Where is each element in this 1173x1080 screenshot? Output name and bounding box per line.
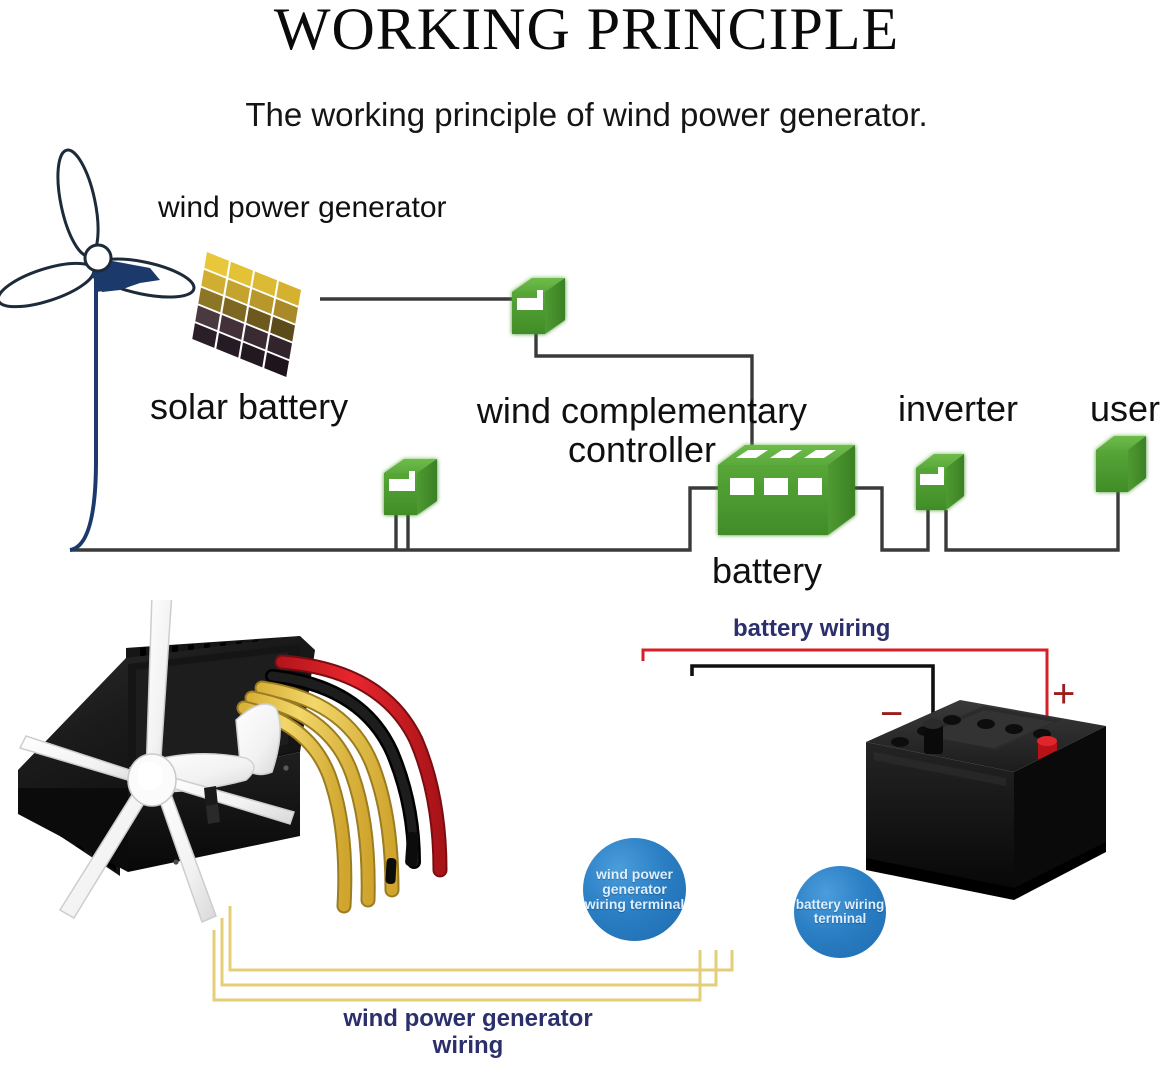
page-title: WORKING PRINCIPLE	[0, 0, 1173, 62]
wire-bottom-to-battery	[400, 488, 718, 550]
label-battery: battery	[712, 552, 822, 591]
battery-negative-symbol: −	[880, 692, 903, 737]
solar-panel-icon	[192, 252, 301, 377]
inverter-box-icon	[916, 454, 964, 510]
callout-battery-wiring-terminal: battery wiring terminal	[794, 866, 886, 958]
label-wind-power-generator: wind power generator	[158, 192, 447, 224]
battery-negative-terminal-icon	[923, 719, 943, 754]
callout-generator-wiring-terminal: wind power generator wiring terminal	[583, 838, 686, 941]
battery-positive-symbol: +	[1052, 672, 1075, 717]
page-subtitle: The working principle of wind power gene…	[0, 96, 1173, 134]
label-wind-complementary-controller: wind complementary controller	[432, 392, 852, 470]
label-inverter: inverter	[898, 390, 1018, 429]
controller-box-upper-icon	[512, 278, 565, 334]
label-wind-power-generator-wiring: wind power generator wiring	[318, 1006, 618, 1060]
wire-inverter-to-user	[946, 492, 1118, 550]
label-battery-wiring: battery wiring	[733, 616, 890, 643]
label-user: user	[1090, 390, 1160, 429]
controller-box-lower-icon	[384, 459, 437, 515]
user-box-icon	[1096, 436, 1146, 492]
label-solar-battery: solar battery	[150, 388, 348, 427]
